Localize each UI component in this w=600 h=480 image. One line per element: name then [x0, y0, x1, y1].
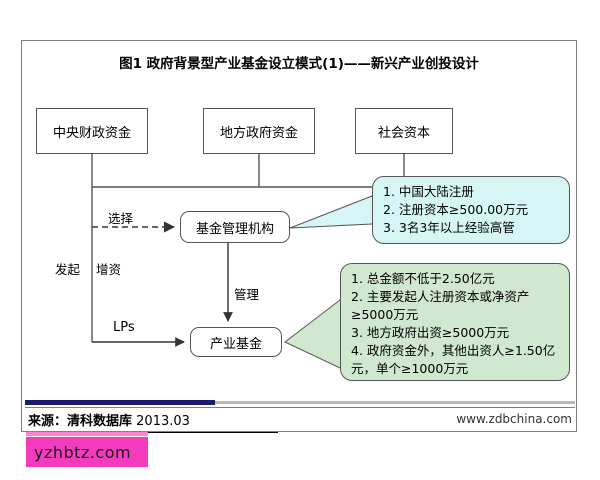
watermark: yzhbtz.com — [26, 437, 148, 467]
callout-fund-line-3: 3. 地方政府出资≥5000万元 — [351, 324, 561, 342]
node-central-funding-label: 中央财政资金 — [53, 122, 131, 141]
footer-divider — [25, 407, 575, 408]
node-social-capital: 社会资本 — [355, 108, 453, 154]
callout-fund-line-2: 2. 主要发起人注册资本或净资产≥5000万元 — [351, 288, 561, 324]
callout-fund-line-4: 4. 政府资金外，其他出资人≥1.50亿元，单个≥1000万元 — [351, 342, 561, 378]
edge-label-lps: LPs — [113, 320, 135, 335]
footer-url[interactable]: www.zdbchina.com — [456, 412, 572, 426]
node-central-funding: 中央财政资金 — [36, 108, 148, 154]
node-industry-fund: 产业基金 — [190, 327, 282, 357]
callout-fund-requirements: 1. 总金额不低于2.50亿元 2. 主要发起人注册资本或净资产≥5000万元 … — [340, 263, 570, 381]
callout-manager-line-1: 1. 中国大陆注册 — [383, 183, 561, 201]
footer-source-label: 来源：清科数据库 — [28, 414, 132, 429]
footer-accent-bar — [25, 400, 215, 405]
callout-manager-line-2: 2. 注册资本≥500.00万元 — [383, 201, 561, 219]
node-fund-manager: 基金管理机构 — [180, 211, 290, 243]
node-local-government-funding: 地方政府资金 — [203, 108, 315, 154]
footer-source: 来源：清科数据库 2013.03 — [28, 410, 190, 429]
node-local-government-funding-label: 地方政府资金 — [220, 122, 298, 141]
node-fund-manager-label: 基金管理机构 — [196, 218, 274, 237]
node-social-capital-label: 社会资本 — [378, 122, 430, 141]
watermark-stripe — [26, 432, 148, 436]
callout-fund-line-1: 1. 总金额不低于2.50亿元 — [351, 270, 561, 288]
edge-label-manage: 管理 — [234, 284, 259, 303]
callout-manager-requirements: 1. 中国大陆注册 2. 注册资本≥500.00万元 3. 3名3年以上经验高管 — [372, 176, 570, 244]
footer-grey-bar — [215, 401, 575, 404]
footer-source-date: 2013.03 — [136, 414, 190, 429]
node-industry-fund-label: 产业基金 — [210, 333, 262, 352]
edge-label-initiate: 发起 — [55, 262, 69, 278]
figure-title: 图1 政府背景型产业基金设立模式(1)——新兴产业创投设计 — [21, 52, 577, 72]
edge-label-add-capital: 增资 — [96, 262, 110, 278]
watermark-underline — [148, 432, 278, 433]
callout-manager-line-3: 3. 3名3年以上经验高管 — [383, 219, 561, 237]
edge-label-select: 选择 — [108, 208, 133, 227]
